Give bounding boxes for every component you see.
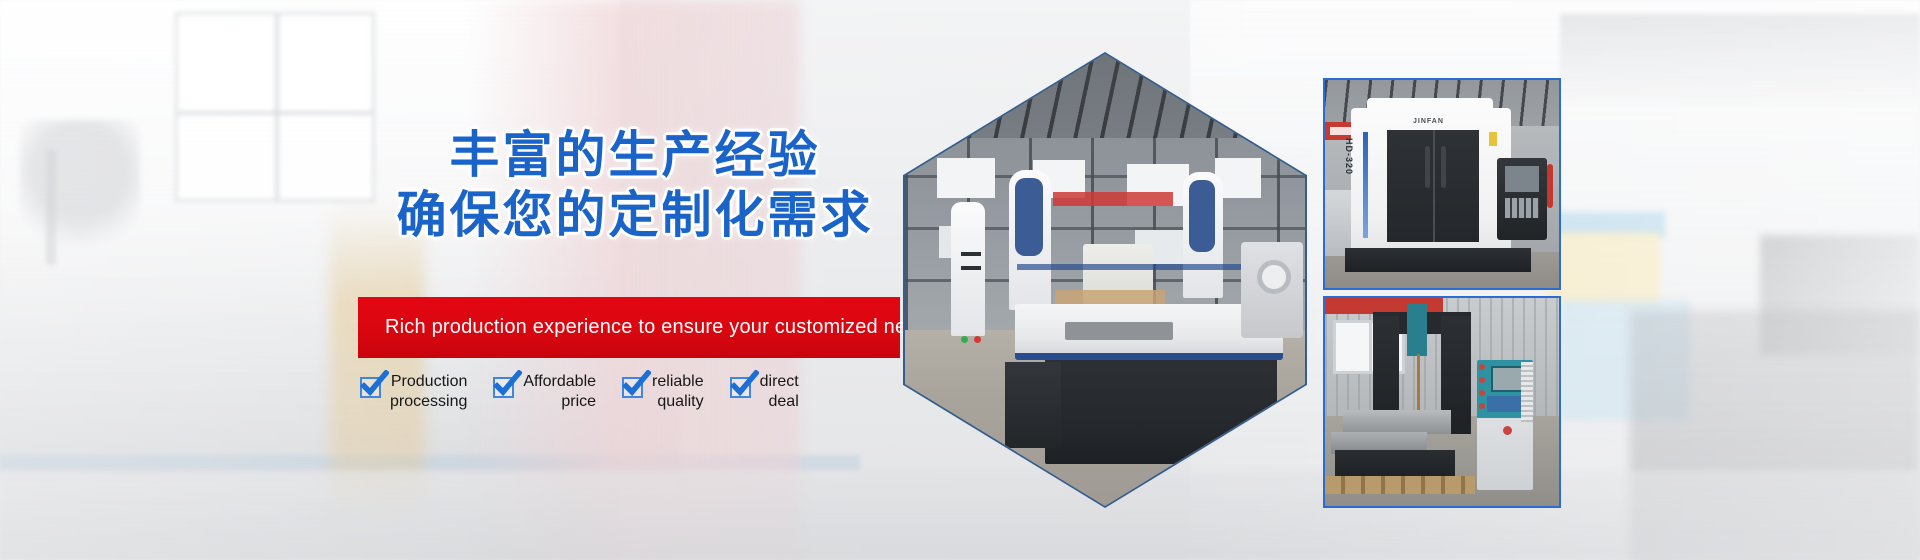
headline-line-2: 确保您的定制化需求	[355, 185, 915, 245]
feature-item-reliable-quality: reliable quality	[622, 372, 704, 412]
feature-label: reliable quality	[652, 372, 704, 412]
thumb-machine-model-label: HD-320	[1344, 138, 1354, 175]
feature-label-line-2: price	[523, 392, 596, 412]
thumb2-cabinet-vent	[1521, 362, 1533, 422]
hero-banner: 丰富的生产经验 确保您的定制化需求 Rich production experi…	[0, 0, 1920, 560]
photo-haze	[905, 54, 1305, 506]
thumb2-control-knobs	[1479, 364, 1487, 410]
feature-label: Production processing	[390, 372, 467, 412]
thumb-door-handle	[1441, 146, 1446, 188]
feature-label-line-2: quality	[652, 392, 704, 412]
thumb2-work-table	[1343, 410, 1451, 434]
hexagon-border	[903, 52, 1307, 508]
feature-item-direct-deal: direct deal	[730, 372, 799, 412]
feature-label-line-1: Production	[390, 372, 467, 392]
thumbnail-edm-machine	[1323, 296, 1561, 508]
feature-label-line-1: direct	[760, 372, 799, 392]
thumb-door-handle	[1425, 146, 1430, 188]
feature-label-line-2: processing	[390, 392, 467, 412]
feature-item-production-processing: Production processing	[360, 372, 467, 412]
thumb-left-equipment	[1325, 190, 1351, 256]
feature-label-line-1: reliable	[652, 372, 704, 392]
thumb-machine-plinth	[1345, 248, 1531, 272]
headline-line-1: 丰富的生产经验	[450, 127, 821, 183]
hexagon-photo-content	[905, 54, 1305, 506]
thumb2-wood-pallet	[1325, 476, 1475, 494]
hexagon-photo	[903, 52, 1307, 508]
thumbnail-machining-center: HD-320 JINFAN	[1323, 78, 1561, 290]
thumb-machine-stripe	[1363, 132, 1368, 238]
checkbox-checked-icon	[493, 377, 514, 398]
thumb-control-handle	[1547, 164, 1553, 208]
thumb2-emergency-stop	[1503, 426, 1512, 435]
thumb-machine-brand: JINFAN	[1413, 118, 1444, 125]
checkbox-checked-icon	[730, 377, 751, 398]
checkbox-checked-icon	[360, 377, 381, 398]
thumb2-wire	[1417, 354, 1420, 416]
feature-label: Affordable price	[523, 372, 596, 412]
feature-item-affordable-price: Affordable price	[493, 372, 596, 412]
thumb2-control-screen	[1491, 366, 1525, 392]
subtitle-bar: Rich production experience to ensure you…	[358, 297, 900, 358]
thumb2-cutting-head	[1407, 304, 1427, 356]
feature-label-line-2: deal	[760, 392, 799, 412]
thumb-control-keypad	[1505, 198, 1539, 218]
feature-label-line-1: Affordable	[523, 372, 596, 392]
feature-label: direct deal	[760, 372, 799, 412]
thumb-control-screen	[1505, 166, 1539, 192]
feature-list: Production processing Affordable price	[360, 372, 799, 412]
headline: 丰富的生产经验 确保您的定制化需求	[355, 125, 915, 245]
thumb-warning-label	[1489, 132, 1497, 146]
subtitle-text: Rich production experience to ensure you…	[358, 316, 939, 339]
thumb-machine-door	[1387, 130, 1479, 242]
checkbox-checked-icon	[622, 377, 643, 398]
